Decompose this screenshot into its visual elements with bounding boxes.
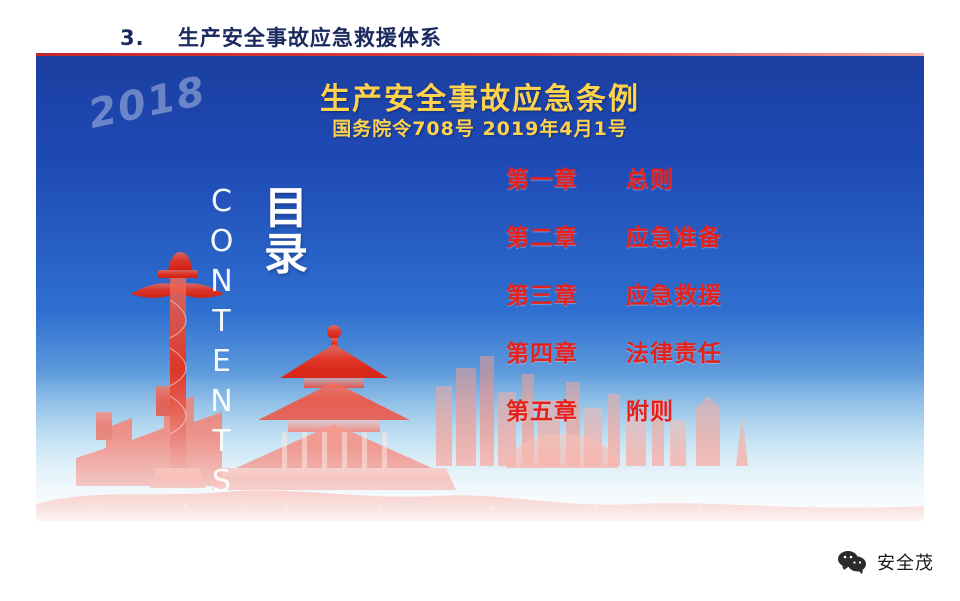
chapter-list: 第一章 总则 第二章 应急准备 第三章 应急救援 第四章 法律责任 第五章 附则 [506,148,886,438]
slide-header: 3. 生产安全事故应急救援体系 [0,0,960,56]
document-subtitle: 国务院令708号 2019年4月1号 [36,114,924,141]
chapter-name: 总则 [626,160,674,194]
wechat-icon [837,549,867,575]
list-item[interactable]: 第一章 总则 [506,148,886,206]
section-title: 生产安全事故应急救援体系 [178,26,442,50]
list-item[interactable]: 第三章 应急救援 [506,264,886,322]
chapter-number: 第五章 [506,392,626,426]
slide-root: 3. 生产安全事故应急救援体系 [0,0,960,601]
chapter-name: 附则 [626,392,674,426]
chapter-number: 第一章 [506,160,626,194]
page-title: 3. 生产安全事故应急救援体系 [120,22,442,52]
brand-name: 安全茂 [877,549,934,575]
chapter-number: 第四章 [506,334,626,368]
list-item[interactable]: 第四章 法律责任 [506,322,886,380]
chapter-name: 应急准备 [626,218,722,252]
contents-label-en: CONTENTS [204,184,239,504]
chapter-number: 第三章 [506,276,626,310]
content-panel: 2018 生产安全事故应急条例 国务院令708号 2019年4月1号 CONTE… [36,56,924,521]
section-number: 3. [120,26,145,50]
list-item[interactable]: 第二章 应急准备 [506,206,886,264]
document-title: 生产安全事故应急条例 [36,74,924,118]
chapter-number: 第二章 [506,218,626,252]
chapter-name: 法律责任 [626,334,722,368]
list-item[interactable]: 第五章 附则 [506,380,886,438]
contents-label-cn: 目录 [256,186,316,278]
footer-brand: 安全茂 [837,549,934,575]
chapter-name: 应急救援 [626,276,722,310]
